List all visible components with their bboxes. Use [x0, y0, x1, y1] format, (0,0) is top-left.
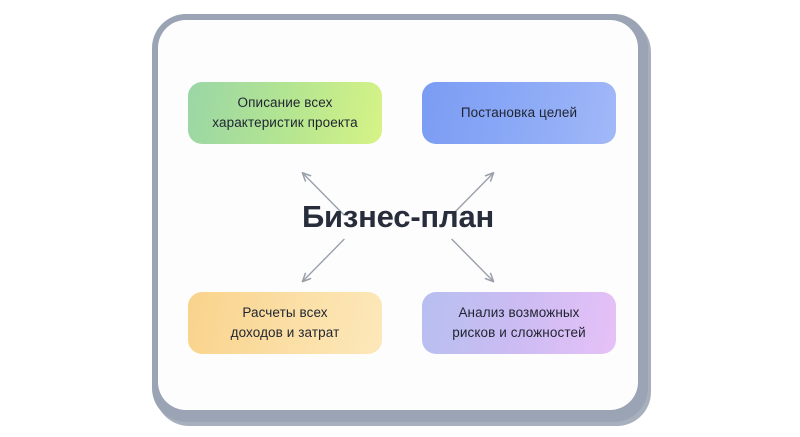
diagram-node-top-left-label: Описание всех характеристик проекта	[212, 93, 357, 132]
diagram-node-bottom-right-label: Анализ возможных рисков и сложностей	[452, 303, 585, 342]
diagram-canvas: Описание всех характеристик проекта Пост…	[0, 0, 800, 437]
arrow-to-bottom-right	[452, 239, 493, 281]
diagram-node-top-left[interactable]: Описание всех характеристик проекта	[188, 82, 382, 144]
diagram-card-surface: Описание всех характеристик проекта Пост…	[158, 20, 638, 410]
diagram-node-bottom-left-label: Расчеты всех доходов и затрат	[231, 303, 340, 342]
diagram-card-frame: Описание всех характеристик проекта Пост…	[152, 14, 648, 422]
diagram-center-title: Бизнес-план	[158, 199, 638, 235]
arrow-to-bottom-left	[303, 239, 344, 281]
diagram-node-bottom-left[interactable]: Расчеты всех доходов и затрат	[188, 292, 382, 354]
diagram-node-top-right[interactable]: Постановка целей	[422, 82, 616, 144]
business-plan-diagram: Описание всех характеристик проекта Пост…	[158, 20, 638, 410]
diagram-node-bottom-right[interactable]: Анализ возможных рисков и сложностей	[422, 292, 616, 354]
diagram-node-top-right-label: Постановка целей	[461, 103, 577, 123]
